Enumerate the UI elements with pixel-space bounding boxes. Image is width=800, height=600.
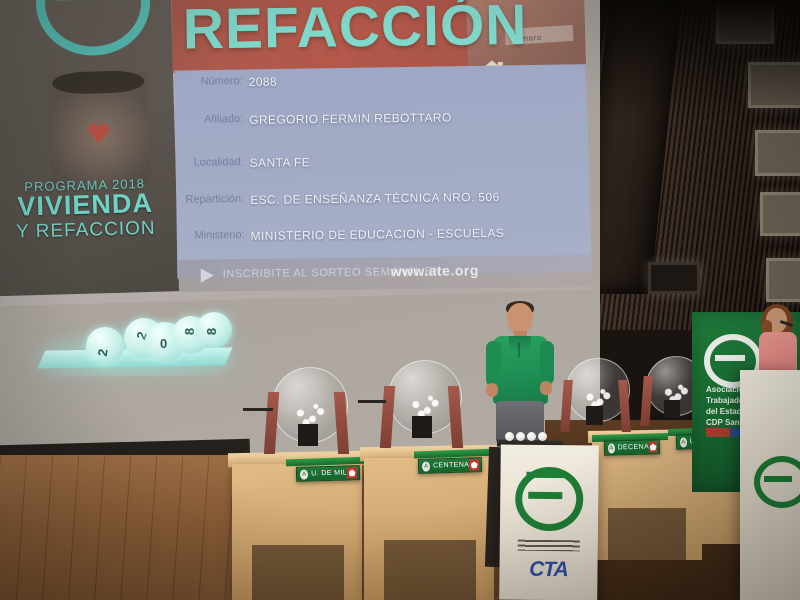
info-row-label: Número:	[200, 75, 242, 88]
light-well	[760, 192, 800, 236]
machine-chute	[664, 400, 680, 418]
ate-podium-subtitle	[518, 540, 580, 552]
program-poster: PROGRAMA 2018 VIVIENDA Y REFACCION	[0, 0, 179, 296]
info-row-label: Ministerio:	[194, 229, 244, 242]
ate-logo-bar	[526, 472, 564, 494]
machine-nameplate-label: DECENA	[617, 444, 649, 452]
presenter-person	[484, 303, 556, 443]
machine-nameplate: A U. DE MIL	[296, 465, 360, 482]
info-row-value: 2088	[249, 75, 277, 89]
info-row-value: ESC. DE ENSEÑANZA TÉCNICA NRO. 506	[250, 190, 500, 207]
ate-circle-logo-icon	[35, 0, 152, 57]
drawn-ball: 2	[86, 327, 124, 365]
play-triangle-icon	[201, 268, 214, 282]
info-row-label: Repartición:	[185, 193, 244, 206]
table-inner-shadow	[252, 545, 344, 600]
podium-ball	[527, 432, 536, 441]
cta-red-star-icon	[469, 459, 479, 470]
info-row-value: SANTA FE	[250, 155, 310, 170]
slide-footer: INSCRIBITE AL SORTEO SEMANAL EN: www.ate…	[178, 255, 592, 292]
screenshot-root: PROGRAMA 2018 VIVIENDA Y REFACCION Cámar…	[0, 0, 800, 600]
machine-leg	[640, 376, 652, 426]
drawn-ball-digit: 2	[95, 348, 111, 357]
drawn-ball-digit: 8	[204, 328, 219, 335]
machine-chute	[412, 416, 432, 438]
drawn-ball-digit: 8	[182, 328, 197, 335]
table-inner-shadow	[384, 540, 476, 600]
info-row-label: Localidad:	[193, 156, 243, 169]
wall-vent	[648, 262, 700, 294]
presenter-hand-left	[486, 383, 498, 397]
presenter-head	[507, 303, 533, 334]
podium-ball-group	[505, 432, 549, 443]
cta-red-star-icon	[347, 467, 357, 478]
cta-red-star-icon	[649, 441, 657, 452]
machine-chute	[298, 424, 318, 446]
presenter-collar	[509, 336, 531, 349]
ate-badge-icon: A	[422, 461, 430, 471]
info-row: Localidad: SANTA FE	[176, 152, 593, 187]
ate-circle-logo-icon	[515, 467, 584, 532]
speaker-podium	[740, 370, 800, 600]
ate-badge-icon: A	[680, 437, 687, 447]
info-row-label: Afiliado:	[204, 113, 243, 125]
poster-line-2: Y REFACCION	[0, 217, 178, 244]
machine-crank[interactable]	[243, 408, 273, 411]
podium-ball	[538, 432, 547, 441]
presenter-hand-right	[540, 381, 552, 395]
machine-chute	[586, 406, 603, 425]
presenter-arm-right	[540, 341, 554, 385]
slide-footer-url: www.ate.org	[391, 262, 479, 279]
presenter-placket	[518, 343, 520, 357]
machine-nameplate: A CENTENA	[418, 457, 482, 474]
machine-crank[interactable]	[358, 400, 386, 403]
light-well	[766, 258, 800, 302]
machine-nameplate: A DECENA	[604, 439, 660, 455]
drawn-ball-digit: 0	[160, 336, 167, 351]
info-row-value: MINISTERIO DE EDUCACION - ESCUELAS	[251, 226, 505, 243]
podium-ball	[505, 432, 514, 441]
info-row: Repartición: ESC. DE ENSEÑANZA TÉCNICA N…	[176, 189, 592, 224]
slide-info-rows: Número: 2088 Afiliado: GREGORIO FERMIN R…	[175, 67, 593, 277]
presenter-arm-left	[486, 341, 501, 387]
cta-logo-text: CTA	[518, 558, 578, 583]
info-row: Número: 2088	[175, 71, 593, 106]
ate-badge-icon: A	[608, 443, 615, 453]
projection-screen: PROGRAMA 2018 VIVIENDA Y REFACCION Cámar…	[0, 0, 592, 306]
light-well	[755, 130, 800, 176]
slide-headline: REFACCIÓN	[182, 0, 528, 63]
machine-nameplate-label: U. DE MIL	[311, 470, 347, 478]
info-row: Afiliado: GREGORIO FERMIN REBOTTARO	[175, 109, 592, 144]
table-inner-shadow	[608, 508, 686, 560]
ate-badge-icon: A	[300, 469, 308, 479]
ate-circle-logo-icon	[754, 456, 800, 508]
podium-ball	[516, 432, 525, 441]
machine-nameplate-label: CENTENA	[433, 461, 469, 469]
ate-podium: CTA	[499, 444, 599, 600]
drawn-ball: 8	[196, 312, 232, 348]
info-row-value: GREGORIO FERMIN REBOTTARO	[249, 111, 452, 127]
